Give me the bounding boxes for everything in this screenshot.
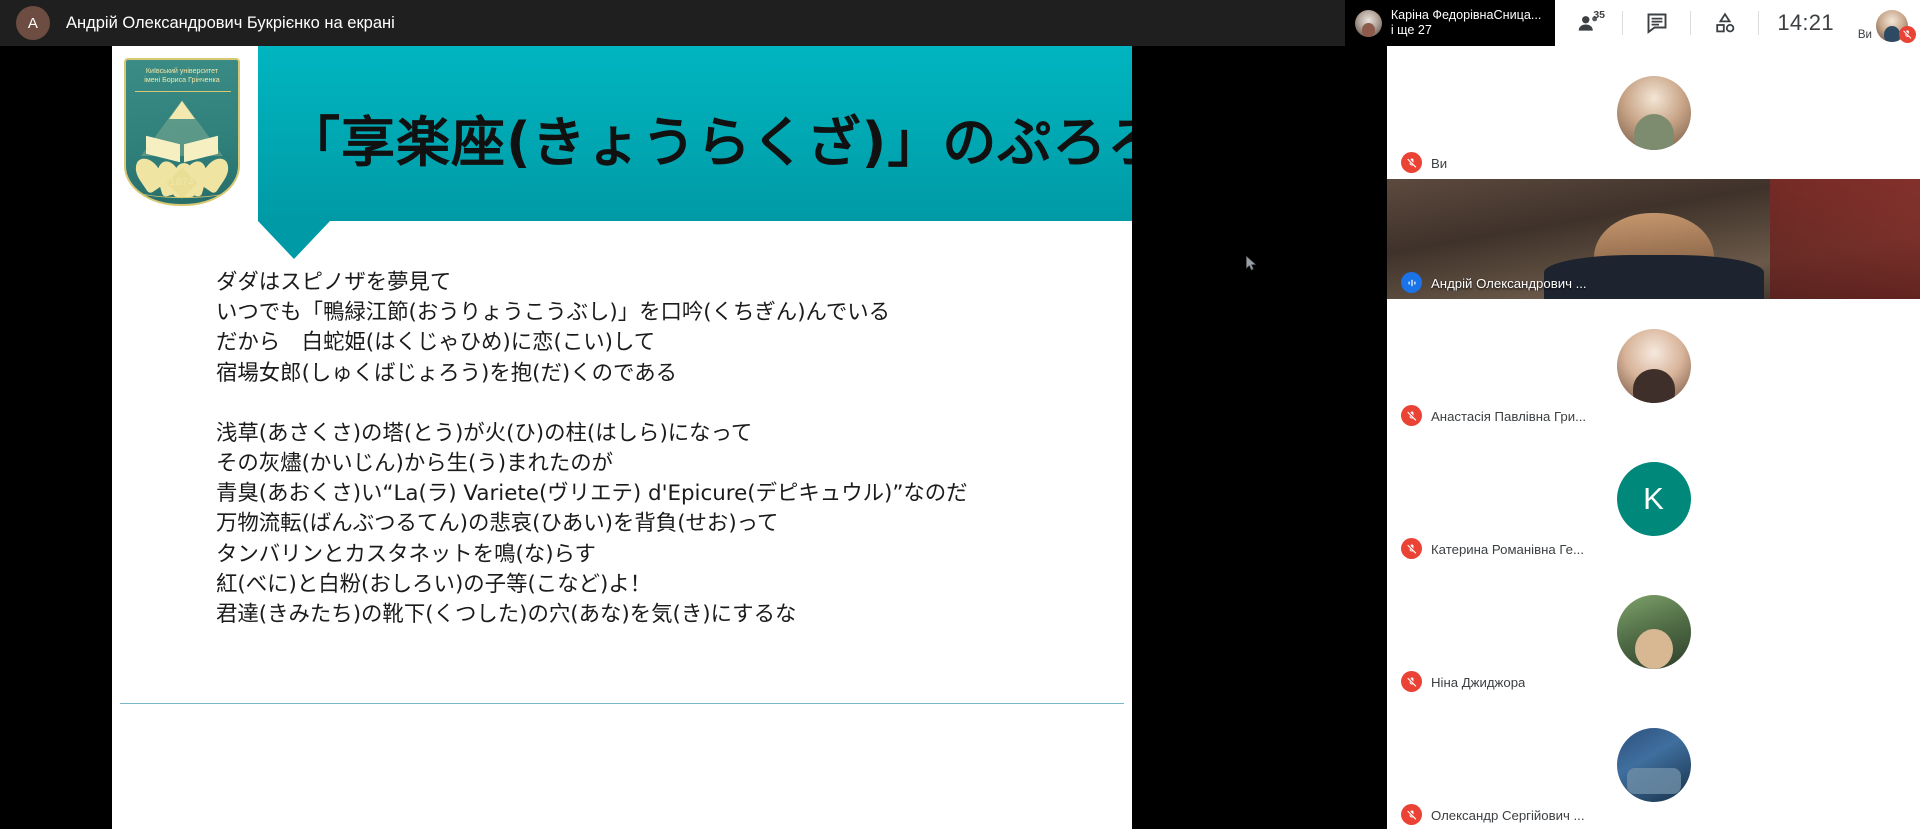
list-item[interactable]: Ніна Джиджора: [1387, 565, 1920, 698]
self-view-tile[interactable]: Ви: [1852, 0, 1920, 46]
active-speaker-thumbnail: [1355, 10, 1382, 37]
mic-off-icon: [1401, 405, 1422, 426]
logo-rule: [135, 91, 231, 92]
poem-line: タンバリンとカスタネットを鳴(な)らす: [216, 540, 1096, 570]
mouse-pointer-icon: [1246, 256, 1256, 270]
mic-off-glyph: [1406, 676, 1418, 688]
slide-header-notch: [258, 221, 330, 259]
self-mic-off-icon[interactable]: [1899, 26, 1916, 43]
mic-off-glyph: [1406, 157, 1418, 169]
chat-icon: [1645, 11, 1669, 35]
list-item[interactable]: Ви: [1387, 46, 1920, 179]
list-item[interactable]: Олександр Сергійович ...: [1387, 698, 1920, 829]
poem-line: 浅草(あさくさ)の塔(とう)が火(ひ)の柱(はしら)になって: [216, 419, 1096, 449]
logo-arc: [135, 182, 231, 198]
poem-line: 青臭(あおくさ)い“La(ラ) Variete(ヴリエテ) d'Epicure(…: [216, 479, 1096, 509]
list-item-label: Ви: [1431, 156, 1447, 171]
mic-off-icon: [1401, 152, 1422, 173]
top-bar: A Андрій Олександрович Букрієнко на екра…: [0, 0, 1920, 46]
avatar: [1617, 728, 1691, 802]
logo-triangle-solid-icon: [169, 101, 195, 119]
list-item-label: Андрій Олександрович ...: [1431, 276, 1587, 291]
mic-off-glyph: [1406, 543, 1418, 555]
paragraph-gap: [216, 389, 1096, 419]
list-item[interactable]: K Катерина Романівна Ге...: [1387, 432, 1920, 565]
poem-line: 宿場女郎(しゅくばじょろう)を抱(だ)くのである: [216, 359, 1096, 389]
avatar: [1617, 329, 1691, 403]
participants-count: 35: [1593, 9, 1605, 21]
active-speaker-pill[interactable]: Каріна ФедорівнаСница... і ще 27: [1345, 0, 1556, 46]
list-item-label: Катерина Романівна Ге...: [1431, 542, 1584, 557]
participants-button[interactable]: 35: [1555, 0, 1623, 46]
slide-title: 「享楽座(きょうらくざ)」のぷろろぐ: [286, 98, 1132, 177]
avatar: [1617, 76, 1691, 150]
toolbar-divider-3: [1758, 11, 1759, 35]
logo-top-text: Київський університет імені Бориса Грінч…: [126, 67, 238, 86]
meet-window: A Андрій Олександрович Букрієнко на екра…: [0, 0, 1920, 829]
avatar: [1617, 595, 1691, 669]
active-speaker-name: Каріна ФедорівнаСница...: [1391, 8, 1542, 23]
logo-line-1: Київський університет: [126, 67, 238, 76]
mic-active-glyph: [1406, 277, 1418, 289]
presenter-name: Андрій Олександрович Букрієнко на екрані: [66, 14, 395, 33]
presenter-chip: A Андрій Олександрович Букрієнко на екра…: [0, 6, 395, 40]
mic-off-glyph: [1406, 410, 1418, 422]
activities-icon: [1713, 11, 1737, 35]
active-speaker-others: і ще 27: [1391, 23, 1542, 38]
mic-off-icon: [1401, 804, 1422, 825]
poem-line: だから 白蛇姫(はくじゃひめ)に恋(こい)して: [216, 328, 1096, 358]
top-bar-right: Каріна ФедорівнаСница... і ще 27 35: [1345, 0, 1920, 46]
poem-line: ダダはスピノザを夢見て: [216, 268, 1096, 298]
list-item[interactable]: Андрій Олександрович ...: [1387, 179, 1920, 299]
list-item-label: Ніна Джиджора: [1431, 675, 1525, 690]
mouse-pointer-glyph: [1246, 256, 1256, 271]
mic-off-glyph: [1902, 29, 1913, 40]
participant-rail[interactable]: Ви Андрій Олександрович ...: [1387, 46, 1920, 829]
poem-line: 紅(べに)と白粉(おしろい)の子等(こなど)よ！: [216, 570, 1096, 600]
list-item[interactable]: Анастасія Павлівна Гри...: [1387, 299, 1920, 432]
self-view-label: Ви: [1858, 29, 1872, 44]
presenter-avatar: A: [16, 6, 50, 40]
toolbar-icons: 35: [1555, 0, 1759, 46]
chat-button[interactable]: [1623, 0, 1691, 46]
poem-line: その灰燼(かいじん)から生(う)まれたのが: [216, 449, 1096, 479]
mic-active-icon: [1401, 272, 1422, 293]
poem-line: 君達(きみたち)の靴下(くつした)の穴(あな)を気(き)にするな: [216, 600, 1096, 630]
video-backdrop: [1770, 179, 1920, 299]
meeting-clock: 14:21: [1759, 0, 1852, 46]
avatar: K: [1617, 462, 1691, 536]
university-logo: Київський університет імені Бориса Грінч…: [124, 58, 240, 206]
presentation-slide: Київський університет імені Бориса Грінч…: [112, 46, 1132, 829]
shared-screen-stage[interactable]: Київський університет імені Бориса Грінч…: [0, 46, 1387, 829]
mic-off-glyph: [1406, 809, 1418, 821]
mic-off-icon: [1401, 538, 1422, 559]
list-item-label: Анастасія Павлівна Гри...: [1431, 409, 1586, 424]
activities-button[interactable]: [1691, 0, 1759, 46]
list-item-label: Олександр Сергійович ...: [1431, 808, 1585, 823]
poem-line: いつでも「鴨緑江節(おうりょうこうぶし)」を口吟(くちぎん)んでいる: [216, 298, 1096, 328]
poem-line: 万物流転(ばんぶつるてん)の悲哀(ひあい)を背負(せお)って: [216, 509, 1096, 539]
logo-line-2: імені Бориса Грінченка: [126, 76, 238, 85]
slide-footer-rule: [120, 703, 1124, 704]
slide-body-text: ダダはスピノザを夢見て いつでも「鴨緑江節(おうりょうこうぶし)」を口吟(くちぎ…: [216, 268, 1096, 630]
mic-off-icon: [1401, 671, 1422, 692]
